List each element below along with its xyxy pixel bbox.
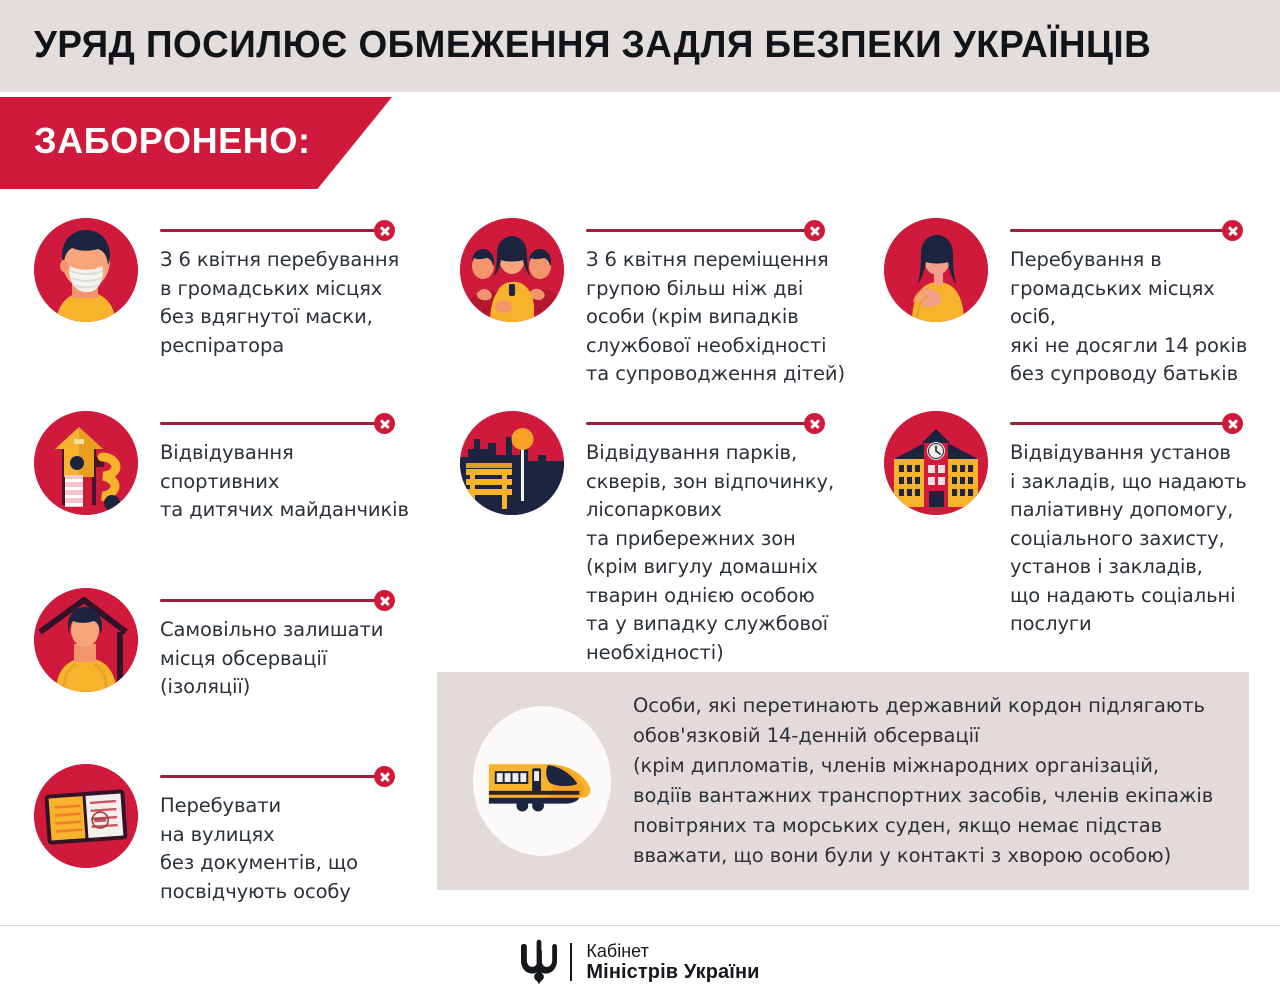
restriction-item-parks: Відвідування парків, скверів, зон відпоч… [460, 411, 850, 667]
item-rule [1010, 220, 1256, 242]
institution-building-icon [884, 411, 988, 515]
page-title: УРЯД ПОСИЛЮЄ ОБМЕЖЕННЯ ЗАДЛЯ БЕЗПЕКИ УКР… [34, 22, 1217, 68]
restriction-item-mask: З 6 квітня перебування в громадських міс… [34, 218, 424, 360]
close-x-icon [804, 220, 825, 241]
close-x-icon [374, 220, 395, 241]
item-rule [160, 220, 424, 242]
close-x-icon [1222, 220, 1243, 241]
restriction-item-minors: Перебування в громадських місцях осіб, я… [884, 218, 1256, 389]
close-x-icon [1222, 413, 1243, 434]
restriction-item-text: З 6 квітня переміщення групою більш ніж … [586, 246, 850, 389]
footer-line-1: Кабінет [586, 941, 759, 962]
close-x-icon [374, 413, 395, 434]
rule-line [160, 599, 384, 602]
restriction-item-text: Самовільно залишати місця обсервації (із… [160, 616, 422, 702]
restriction-item-text: Перебувати на вулицях без документів, що… [160, 792, 422, 906]
rule-line [1010, 229, 1232, 232]
restriction-item-text: Відвідування парків, скверів, зон відпоч… [586, 439, 850, 667]
rule-line [586, 229, 814, 232]
restriction-item-body: З 6 квітня переміщення групою більш ніж … [586, 218, 850, 389]
rule-line [1010, 422, 1232, 425]
item-rule [160, 413, 424, 435]
restriction-item-body: Відвідування установ і закладів, що нада… [1010, 411, 1256, 639]
restriction-item-body: Відвідування спортивних та дитячих майда… [160, 411, 424, 525]
girl-icon [884, 218, 988, 322]
restriction-item-text: Відвідування установ і закладів, що нада… [1010, 439, 1256, 639]
item-rule [586, 413, 850, 435]
border-crossing-text: Особи, які перетинають державний кордон … [633, 691, 1213, 871]
footer: Кабінет Міністрів України [0, 938, 1280, 986]
rule-line [586, 422, 814, 425]
passport-icon [34, 764, 138, 868]
train-icon [473, 706, 611, 856]
restriction-item-text: Перебування в громадських місцях осіб, я… [1010, 246, 1256, 389]
restriction-item-body: Перебувати на вулицях без документів, що… [160, 764, 422, 906]
rule-line [160, 422, 384, 425]
restriction-item-institutions: Відвідування установ і закладів, що нада… [884, 411, 1256, 639]
masked-man-icon [34, 218, 138, 322]
restriction-item-body: Відвідування парків, скверів, зон відпоч… [586, 411, 850, 667]
footer-wordmark: Кабінет Міністрів України [586, 941, 759, 983]
prohibited-banner-label: ЗАБОРОНЕНО: [34, 120, 311, 162]
item-rule [160, 766, 422, 788]
item-rule [160, 590, 422, 612]
restriction-item-body: Самовільно залишати місця обсервації (із… [160, 588, 422, 702]
restriction-item-body: Перебування в громадських місцях осіб, я… [1010, 218, 1256, 389]
rule-line [160, 229, 384, 232]
restriction-item-text: Відвідування спортивних та дитячих майда… [160, 439, 424, 525]
restriction-item-observation: Самовільно залишати місця обсервації (із… [34, 588, 424, 702]
playground-icon [34, 411, 138, 515]
park-bench-icon [460, 411, 564, 515]
rule-line [160, 775, 384, 778]
close-x-icon [804, 413, 825, 434]
restriction-item-playgrounds: Відвідування спортивних та дитячих майда… [34, 411, 424, 525]
group-of-people-icon [460, 218, 564, 322]
border-crossing-panel: Особи, які перетинають державний кордон … [437, 672, 1249, 890]
restriction-item-documents: Перебувати на вулицях без документів, що… [34, 764, 424, 906]
restriction-item-text: З 6 квітня перебування в громадських міс… [160, 246, 424, 360]
restriction-item-body: З 6 квітня перебування в громадських міс… [160, 218, 424, 360]
item-rule [586, 220, 850, 242]
person-at-home-icon [34, 588, 138, 692]
infographic-page: УРЯД ПОСИЛЮЄ ОБМЕЖЕННЯ ЗАДЛЯ БЕЗПЕКИ УКР… [0, 0, 1280, 1004]
ukraine-trident-icon [520, 938, 558, 986]
close-x-icon [374, 590, 395, 611]
restriction-item-group: З 6 квітня переміщення групою більш ніж … [460, 218, 850, 389]
footer-divider-line [0, 925, 1280, 926]
footer-vertical-divider [570, 943, 572, 981]
item-rule [1010, 413, 1256, 435]
footer-line-2: Міністрів України [586, 962, 759, 983]
close-x-icon [374, 766, 395, 787]
